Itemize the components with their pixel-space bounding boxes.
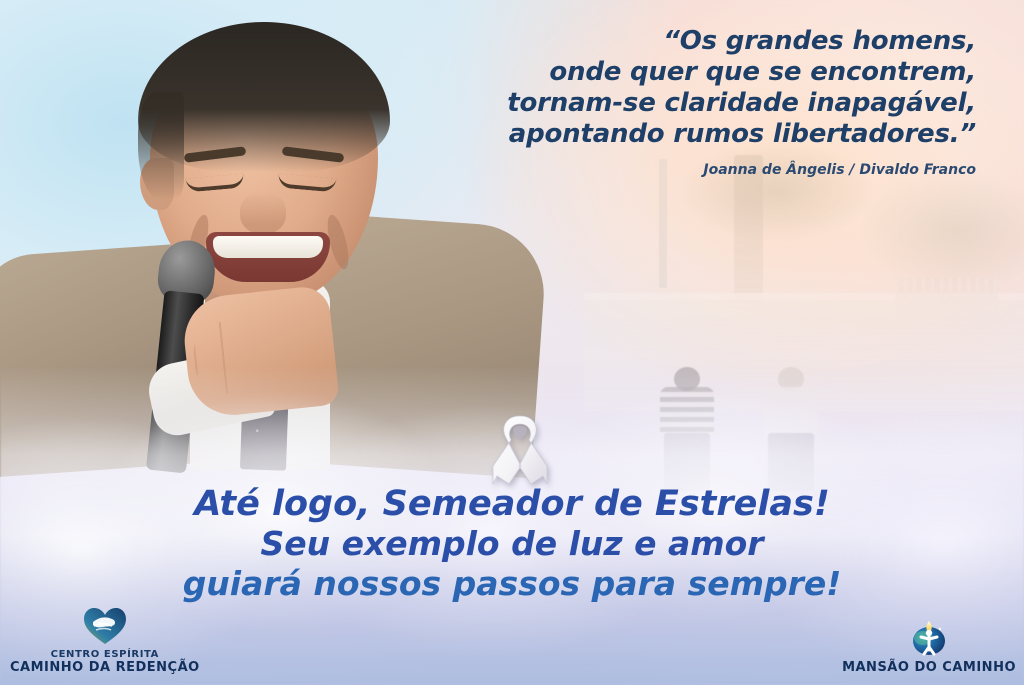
logo-right-line2: MANSÃO DO CAMINHO [842, 660, 1016, 675]
smiling-mouth [206, 232, 330, 282]
memorial-message: Até logo, Semeador de Estrelas! Seu exem… [0, 484, 1024, 604]
logo-centro-espirita-caminho-da-redencao: CENTRO ESPÍRITA CAMINHO DA REDENÇÃO [10, 606, 200, 675]
hair-sideburn [138, 92, 184, 200]
foliage-right [857, 169, 1024, 292]
globe-figure-flame-icon [906, 617, 952, 657]
lamp-post [659, 159, 667, 287]
logo-right-text: MANSÃO DO CAMINHO [842, 660, 1016, 675]
message-line-1: Até logo, Semeador de Estrelas! [0, 484, 1024, 524]
nose [240, 192, 286, 234]
message-line-2: Seu exemplo de luz e amor [0, 524, 1024, 564]
message-line-3: guiará nossos passos para sempre! [0, 564, 1024, 604]
logo-mansao-do-caminho: MANSÃO DO CAMINHO [842, 617, 1016, 675]
quote-block: “Os grandes homens, onde quer que se enc… [316, 26, 976, 178]
logo-left-line1: CENTRO ESPÍRITA [10, 649, 200, 660]
heart-hands-icon [82, 606, 128, 646]
memorial-poster: “Os grandes homens, onde quer que se enc… [0, 0, 1024, 685]
teeth [213, 236, 322, 258]
quote-line-4: apontando rumos libertadores.” [316, 119, 976, 150]
quote-attribution: Joanna de Ângelis / Divaldo Franco [316, 162, 976, 178]
white-ribbon-icon [487, 410, 553, 488]
logo-left-text: CENTRO ESPÍRITA CAMINHO DA REDENÇÃO [10, 649, 200, 675]
quote-line-3: tornam-se claridade inapagável, [316, 88, 976, 119]
quote-line-1: “Os grandes homens, [316, 26, 976, 57]
logo-left-line2: CAMINHO DA REDENÇÃO [10, 660, 200, 675]
quote-line-2: onde quer que se encontrem, [316, 57, 976, 88]
